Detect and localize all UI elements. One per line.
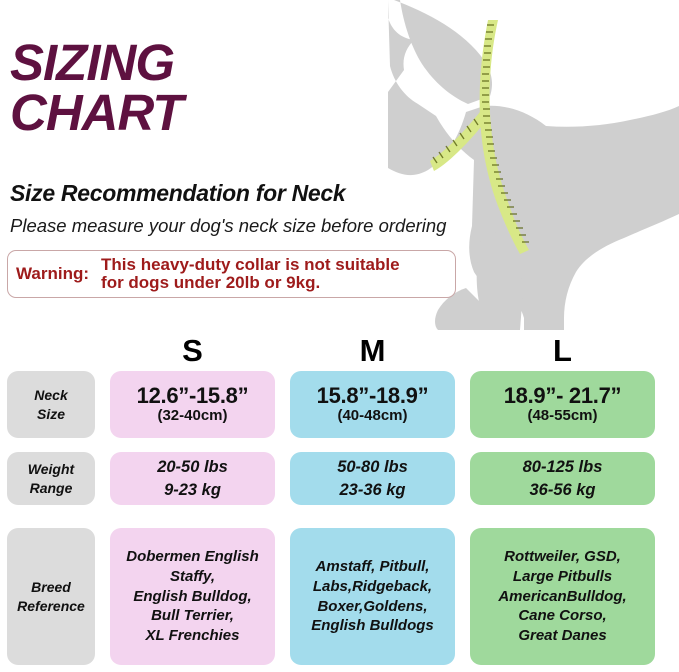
neck-size-l-cm: (48-55cm) (527, 407, 597, 424)
breed-l-line-2: Large Pitbulls (509, 567, 616, 587)
breed-s-line-1: Dobermen English (122, 547, 263, 567)
breed-s-line-4: Bull Terrier, (147, 606, 238, 626)
instruction-text: Please measure your dog's neck size befo… (10, 215, 446, 237)
title-line-1: SIZING (10, 38, 183, 88)
breed-m-line-3: Boxer,Goldens, (313, 597, 431, 617)
breed-l-line-5: Great Danes (514, 626, 610, 646)
row-label-neck-size: Neck Size (7, 371, 95, 438)
weight-range-s-kg: 9-23 kg (164, 479, 221, 501)
warning-box: Warning: This heavy-duty collar is not s… (7, 250, 456, 298)
neck-size-s-cm: (32-40cm) (157, 407, 227, 424)
weight-range-m-lbs: 50-80 lbs (337, 456, 408, 478)
breed-s-line-2: Staffy, (166, 567, 219, 587)
breed-s-line-3: English Bulldog, (129, 587, 255, 607)
size-header-m: M (290, 333, 455, 369)
weight-range-m-kg: 23-36 kg (339, 479, 405, 501)
cell-neck-size-m: 15.8”-18.9” (40-48cm) (290, 371, 455, 438)
breed-m-line-2: Labs,Ridgeback, (309, 577, 436, 597)
neck-size-m-inches: 15.8”-18.9” (317, 384, 429, 407)
row-label-weight-range-line-2: Range (30, 479, 73, 497)
weight-range-s-lbs: 20-50 lbs (157, 456, 228, 478)
row-label-breed-reference-line-2: Reference (17, 597, 85, 615)
neck-size-s-inches: 12.6”-15.8” (137, 384, 249, 407)
neck-size-m-cm: (40-48cm) (337, 407, 407, 424)
breed-m-line-1: Amstaff, Pitbull, (312, 557, 434, 577)
breed-s-line-5: XL Frenchies (142, 626, 244, 646)
warning-message: This heavy-duty collar is not suitable f… (101, 256, 400, 293)
weight-range-l-lbs: 80-125 lbs (523, 456, 603, 478)
warning-message-line-1: This heavy-duty collar is not suitable (101, 255, 400, 274)
warning-label: Warning: (16, 264, 89, 284)
title-line-2: CHART (10, 88, 183, 138)
cell-breed-reference-m: Amstaff, Pitbull, Labs,Ridgeback, Boxer,… (290, 528, 455, 665)
weight-range-l-kg: 36-56 kg (529, 479, 595, 501)
cell-neck-size-s: 12.6”-15.8” (32-40cm) (110, 371, 275, 438)
size-header-l: L (470, 333, 655, 369)
cell-breed-reference-s: Dobermen English Staffy, English Bulldog… (110, 528, 275, 665)
row-label-neck-size-line-1: Neck (34, 386, 67, 404)
breed-l-line-3: AmericanBulldog, (494, 587, 630, 607)
neck-size-l-inches: 18.9”- 21.7” (504, 384, 621, 407)
cell-weight-range-m: 50-80 lbs 23-36 kg (290, 452, 455, 505)
row-label-breed-reference-line-1: Breed (31, 578, 71, 596)
breed-l-line-1: Rottweiler, GSD, (500, 547, 625, 567)
breed-m-line-4: English Bulldogs (307, 616, 438, 636)
row-label-breed-reference: Breed Reference (7, 528, 95, 665)
page-title: SIZING CHART (10, 38, 183, 138)
row-label-weight-range-line-1: Weight (28, 460, 74, 478)
warning-message-line-2: for dogs under 20lb or 9kg. (101, 273, 320, 292)
cell-neck-size-l: 18.9”- 21.7” (48-55cm) (470, 371, 655, 438)
row-label-neck-size-line-2: Size (37, 405, 65, 423)
size-header-s: S (110, 333, 275, 369)
cell-breed-reference-l: Rottweiler, GSD, Large Pitbulls American… (470, 528, 655, 665)
cell-weight-range-s: 20-50 lbs 9-23 kg (110, 452, 275, 505)
breed-l-line-4: Cane Corso, (514, 606, 610, 626)
row-label-weight-range: Weight Range (7, 452, 95, 505)
subtitle: Size Recommendation for Neck (10, 180, 345, 207)
cell-weight-range-l: 80-125 lbs 36-56 kg (470, 452, 655, 505)
